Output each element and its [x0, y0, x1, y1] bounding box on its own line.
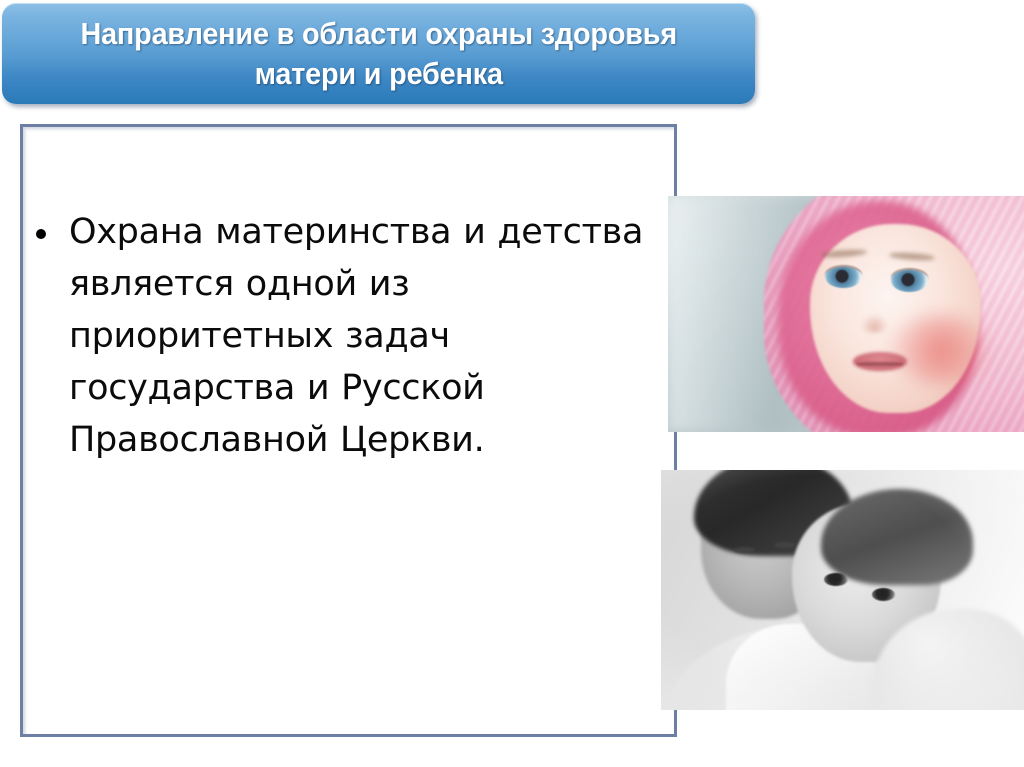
photo-vignette [661, 470, 1024, 710]
bullet-dot-icon [36, 229, 46, 239]
baby-eye-right [891, 270, 928, 291]
bullet-list: Охрана материнства и детства является од… [30, 206, 660, 466]
baby-eye-left [825, 267, 862, 288]
slide-title-banner: Направление в области охраны здоровья ма… [2, 3, 755, 104]
image-baby-in-pink-hood [668, 196, 1024, 432]
baby-cheek-blush [892, 314, 988, 385]
image-mother-holding-baby [661, 470, 1024, 710]
page-title: Направление в области охраны здоровья ма… [80, 14, 677, 94]
list-item: Охрана материнства и детства является од… [30, 206, 660, 466]
baby-nose [860, 314, 888, 333]
bullet-item-text: Охрана материнства и детства является од… [69, 206, 660, 466]
